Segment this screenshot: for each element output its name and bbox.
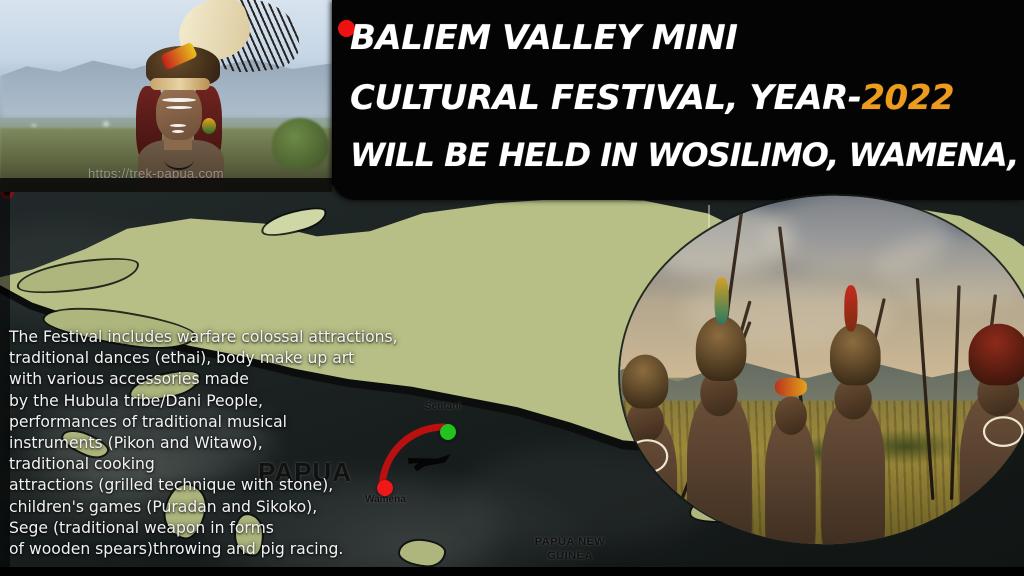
warrior-headdress [969,324,1024,385]
warrior-headband [775,378,807,397]
headband [150,78,210,90]
warrior-figure [765,416,816,558]
warrior-figure [821,401,886,559]
photo-papuan-woman: https://trek-papua.com [0,0,332,192]
photo-content [608,182,1024,558]
warrior-headdress [830,324,881,385]
photo-bottom-strip [0,178,332,192]
festival-poster: PAPUA PAPUA NEW GUINEA Sentani Wamena [0,0,1024,576]
background-bush [272,118,328,170]
warrior-crest [844,286,858,332]
photo-dani-warriors [608,182,1024,558]
title-year: 2022 [861,78,954,118]
earring [202,118,216,134]
warrior-figure [687,393,752,558]
face-paint-dots [172,130,184,133]
title-line-1: BALIEM VALLEY MINI [350,18,737,58]
title-line-3: WILL BE HELD IN WOSILIMO, WAMENA, PAPUA! [350,136,1024,174]
warrior-necklace [627,439,668,474]
map-label-papua-new-guinea: PAPUA NEW GUINEA [525,535,615,563]
warrior-headdress [622,355,668,409]
festival-description: The Festival includes warfare colossal a… [9,327,449,560]
title-line-2: CULTURAL FESTIVAL, YEAR-2022 [350,78,954,118]
warrior-necklace [982,416,1023,447]
title-line-2-prefix: CULTURAL FESTIVAL, YEAR- [350,78,861,118]
face-paint-dots [162,98,196,102]
warrior-head [775,397,807,435]
bottom-black-bar [0,567,1024,576]
face-paint-dots [166,106,192,109]
warrior-crest [715,278,729,324]
warrior-headdress [696,316,747,381]
face-paint-dots [170,124,186,127]
title-panel: BALIEM VALLEY MINI CULTURAL FESTIVAL, YE… [333,0,1024,200]
